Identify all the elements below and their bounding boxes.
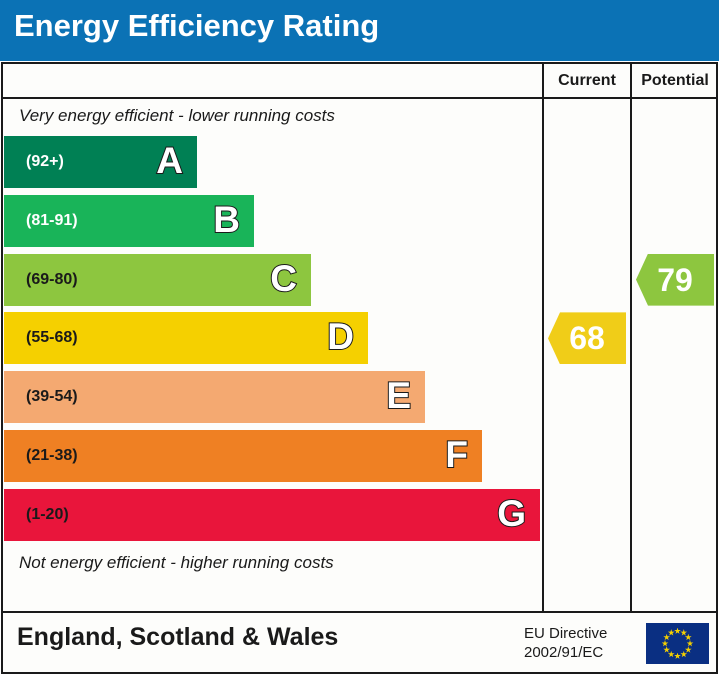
table-header-row: Current Potential (3, 64, 716, 99)
band-row: (1-20)G (3, 487, 542, 546)
eu-directive-line2: 2002/91/EC (524, 643, 634, 662)
band-range-label: (55-68) (26, 312, 78, 364)
band-bar-g: (1-20)G (4, 489, 540, 541)
chart-footer: England, Scotland & Wales EU Directive 2… (1, 613, 718, 674)
eu-flag-star (663, 634, 670, 641)
eu-flag-star (662, 640, 669, 647)
band-row: (39-54)E (3, 369, 542, 428)
eu-flag-star (663, 646, 670, 653)
band-row: (69-80)C (3, 252, 542, 311)
region-label: England, Scotland & Wales (17, 623, 338, 652)
band-range-label: (92+) (26, 136, 64, 188)
band-bar-b: (81-91)B (4, 195, 254, 247)
band-row: (81-91)B (3, 193, 542, 252)
caption-very-efficient: Very energy efficient - lower running co… (3, 99, 542, 132)
band-row: (92+)A (3, 134, 542, 193)
potential-rating-arrow: 79 (636, 254, 714, 306)
band-letter-d: D (327, 312, 354, 364)
column-divider-current (542, 64, 544, 611)
eu-flag-star (674, 628, 681, 635)
energy-efficiency-rating-chart: Energy Efficiency Rating Current Potenti… (0, 0, 719, 675)
eu-flag-star (685, 646, 692, 653)
band-letter-c: C (270, 254, 297, 306)
band-letter-b: B (213, 195, 240, 247)
eu-flag-star (668, 629, 675, 636)
band-range-label: (21-38) (26, 430, 78, 482)
band-letter-g: G (497, 489, 526, 541)
band-letter-a: A (156, 136, 183, 188)
band-letter-e: E (386, 371, 411, 423)
chart-header-banner: Energy Efficiency Rating (0, 0, 719, 61)
band-letter-f: F (445, 430, 468, 482)
eu-flag-star (685, 634, 692, 641)
band-range-label: (69-80) (26, 254, 78, 306)
page-title: Energy Efficiency Rating (14, 8, 379, 44)
band-range-label: (81-91) (26, 195, 78, 247)
eu-flag-star (668, 651, 675, 658)
band-row: (21-38)F (3, 428, 542, 487)
band-range-label: (1-20) (26, 489, 69, 541)
band-bar-c: (69-80)C (4, 254, 311, 306)
caption-not-efficient: Not energy efficient - higher running co… (3, 546, 542, 579)
eu-flag-icon (646, 623, 709, 664)
band-range-label: (39-54) (26, 371, 78, 423)
eu-flag-star (687, 640, 694, 647)
rating-table: Current Potential Very energy efficient … (1, 62, 718, 613)
band-bar-e: (39-54)E (4, 371, 425, 423)
eu-directive-line1: EU Directive (524, 624, 634, 643)
band-list: (92+)A(81-91)B(69-80)C(55-68)D(39-54)E(2… (3, 134, 542, 546)
band-row: (55-68)D (3, 310, 542, 369)
eu-directive-label: EU Directive 2002/91/EC (524, 624, 634, 662)
column-header-current: Current (544, 64, 630, 97)
band-bar-f: (21-38)F (4, 430, 482, 482)
eu-flag-star (674, 653, 681, 660)
column-header-potential: Potential (632, 64, 718, 97)
band-bar-d: (55-68)D (4, 312, 368, 364)
eu-flag-star (680, 651, 687, 658)
column-divider-potential (630, 64, 632, 611)
band-bar-a: (92+)A (4, 136, 197, 188)
eu-flag-star (680, 629, 687, 636)
current-rating-arrow: 68 (548, 312, 626, 364)
